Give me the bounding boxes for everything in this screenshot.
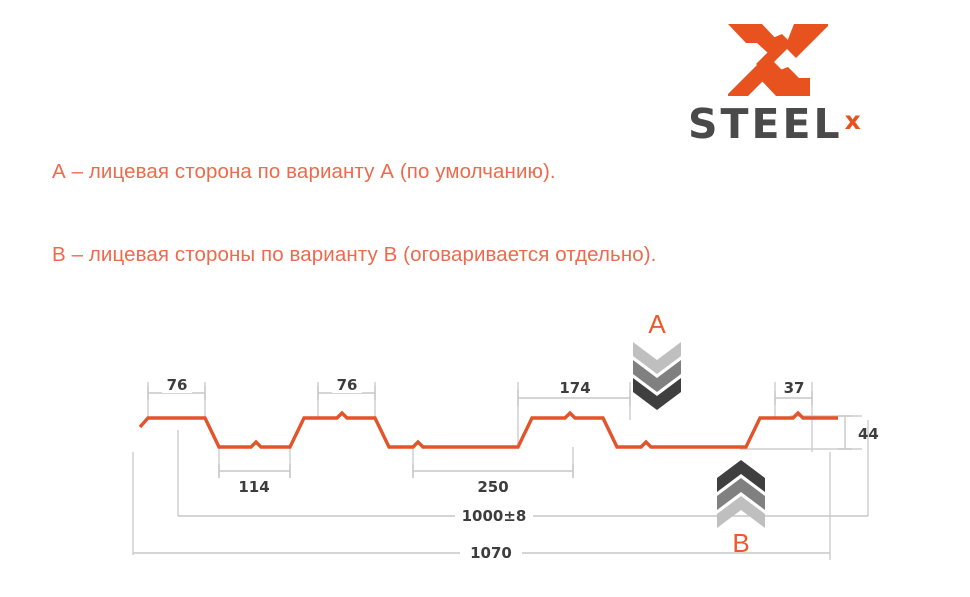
dim-span-174-label: 174: [559, 379, 590, 397]
dim-crest-left-label: 76: [167, 376, 188, 394]
marker-b-chevrons-icon: [717, 460, 765, 528]
dim-crest-mid: 76: [318, 375, 375, 400]
marker-a: А: [633, 309, 681, 410]
dim-total-width: 1070: [133, 543, 830, 563]
dim-pitch-250: 250: [413, 464, 573, 496]
dim-total-width-label: 1070: [470, 544, 512, 562]
dim-edge-37-label: 37: [784, 379, 805, 397]
dim-height-44: 44: [838, 416, 879, 449]
profile-outline: [140, 413, 838, 447]
dim-crest-mid-label: 76: [337, 376, 358, 394]
marker-a-chevrons-icon: [633, 342, 681, 410]
marker-b-label: В: [732, 528, 749, 558]
dim-edge-37: 37: [775, 379, 812, 405]
dim-height-44-label: 44: [858, 425, 879, 443]
dim-pitch-250-label: 250: [477, 478, 508, 496]
dim-span-174: 174: [518, 379, 630, 406]
dim-valley-114-label: 114: [238, 478, 269, 496]
dim-crest-left: 76: [148, 375, 205, 400]
dim-working-width-label: 1000±8: [462, 507, 527, 525]
marker-b: В: [717, 460, 765, 558]
marker-a-label: А: [648, 309, 666, 339]
profile-cross-section-diagram: 76 76 174 37 44 114: [0, 0, 970, 597]
dim-valley-114: 114: [219, 464, 290, 496]
